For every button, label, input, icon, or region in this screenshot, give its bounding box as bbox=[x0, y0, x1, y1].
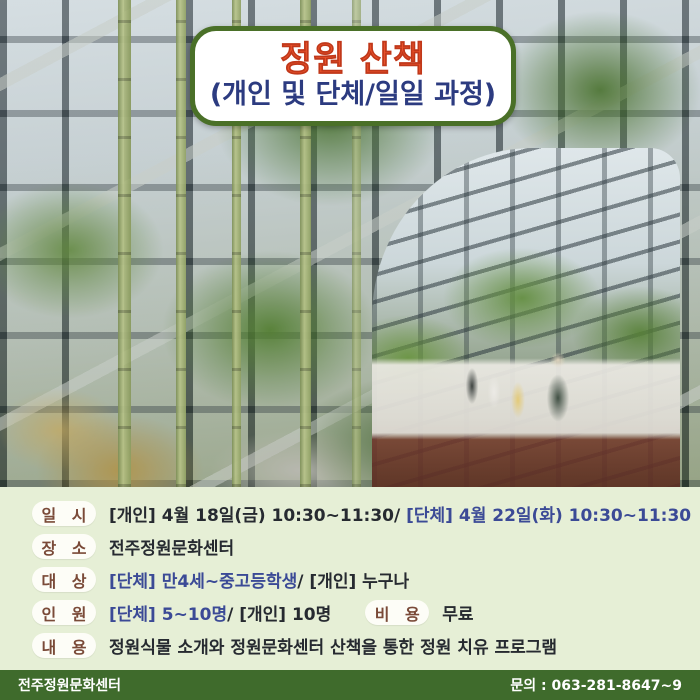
info-label-location: 장 소 bbox=[32, 534, 96, 559]
info-segment: [단체] 5~10명 bbox=[109, 605, 227, 625]
info-segment: [개인] 4월 18일(금) 10:30~11:30/ bbox=[109, 506, 406, 526]
info-row: 내 용 정원식물 소개와 정원문화센터 산책을 통한 정원 치유 프로그램 bbox=[0, 629, 700, 662]
info-value-location: 전주정원문화센터 bbox=[109, 534, 234, 559]
info-label-content: 내 용 bbox=[32, 633, 96, 658]
info-row: 일 시 [개인] 4월 18일(금) 10:30~11:30/ [단체] 4월 … bbox=[0, 497, 700, 530]
info-value-capacity: [단체] 5~10명/ [개인] 10명 bbox=[109, 600, 331, 625]
info-segment: / [개인] 누구나 bbox=[297, 572, 409, 592]
page-subtitle: (개인 및 단체/일일 과정) bbox=[210, 81, 496, 109]
info-label-capacity: 인 원 bbox=[32, 600, 96, 625]
info-value-content: 정원식물 소개와 정원문화센터 산책을 통한 정원 치유 프로그램 bbox=[109, 633, 557, 658]
footer-bar: 전주정원문화센터 문의 : 063-281-8647~9 bbox=[0, 670, 700, 700]
info-row: 장 소 전주정원문화센터 bbox=[0, 530, 700, 563]
bamboo-culm-icon bbox=[118, 0, 131, 487]
footer-contact: 문의 : 063-281-8647~9 bbox=[510, 675, 682, 695]
page-title: 정원 산책 bbox=[280, 42, 426, 79]
info-row: 대 상 [단체] 만4세~중고등학생/ [개인] 누구나 bbox=[0, 563, 700, 596]
inset-walkway-photo bbox=[372, 148, 680, 487]
info-label-audience: 대 상 bbox=[32, 567, 96, 592]
info-value-fee: 무료 bbox=[442, 600, 473, 625]
title-banner: 정원 산책 (개인 및 단체/일일 과정) bbox=[190, 26, 516, 126]
info-segment: [단체] 4월 22일(화) 10:30~11:30 bbox=[406, 506, 691, 526]
info-row: 인 원 [단체] 5~10명/ [개인] 10명 비 용 무료 bbox=[0, 596, 700, 629]
info-value-audience: [단체] 만4세~중고등학생/ [개인] 누구나 bbox=[109, 567, 409, 592]
info-label-datetime: 일 시 bbox=[32, 501, 96, 526]
info-segment: [단체] 만4세~중고등학생 bbox=[109, 572, 297, 592]
footer-organization: 전주정원문화센터 bbox=[18, 675, 121, 695]
bamboo-culm-icon bbox=[176, 0, 186, 487]
info-panel: 일 시 [개인] 4월 18일(금) 10:30~11:30/ [단체] 4월 … bbox=[0, 487, 700, 670]
info-value-datetime: [개인] 4월 18일(금) 10:30~11:30/ [단체] 4월 22일(… bbox=[109, 501, 691, 526]
info-segment: 정원식물 소개와 정원문화센터 산책을 통한 정원 치유 프로그램 bbox=[109, 638, 557, 658]
info-segment: 전주정원문화센터 bbox=[109, 539, 234, 559]
poster-root: 정원 산책 (개인 및 단체/일일 과정) 일 시 [개인] 4월 18일(금)… bbox=[0, 0, 700, 700]
info-label-fee: 비 용 bbox=[365, 600, 429, 625]
info-segment: / [개인] 10명 bbox=[227, 605, 331, 625]
